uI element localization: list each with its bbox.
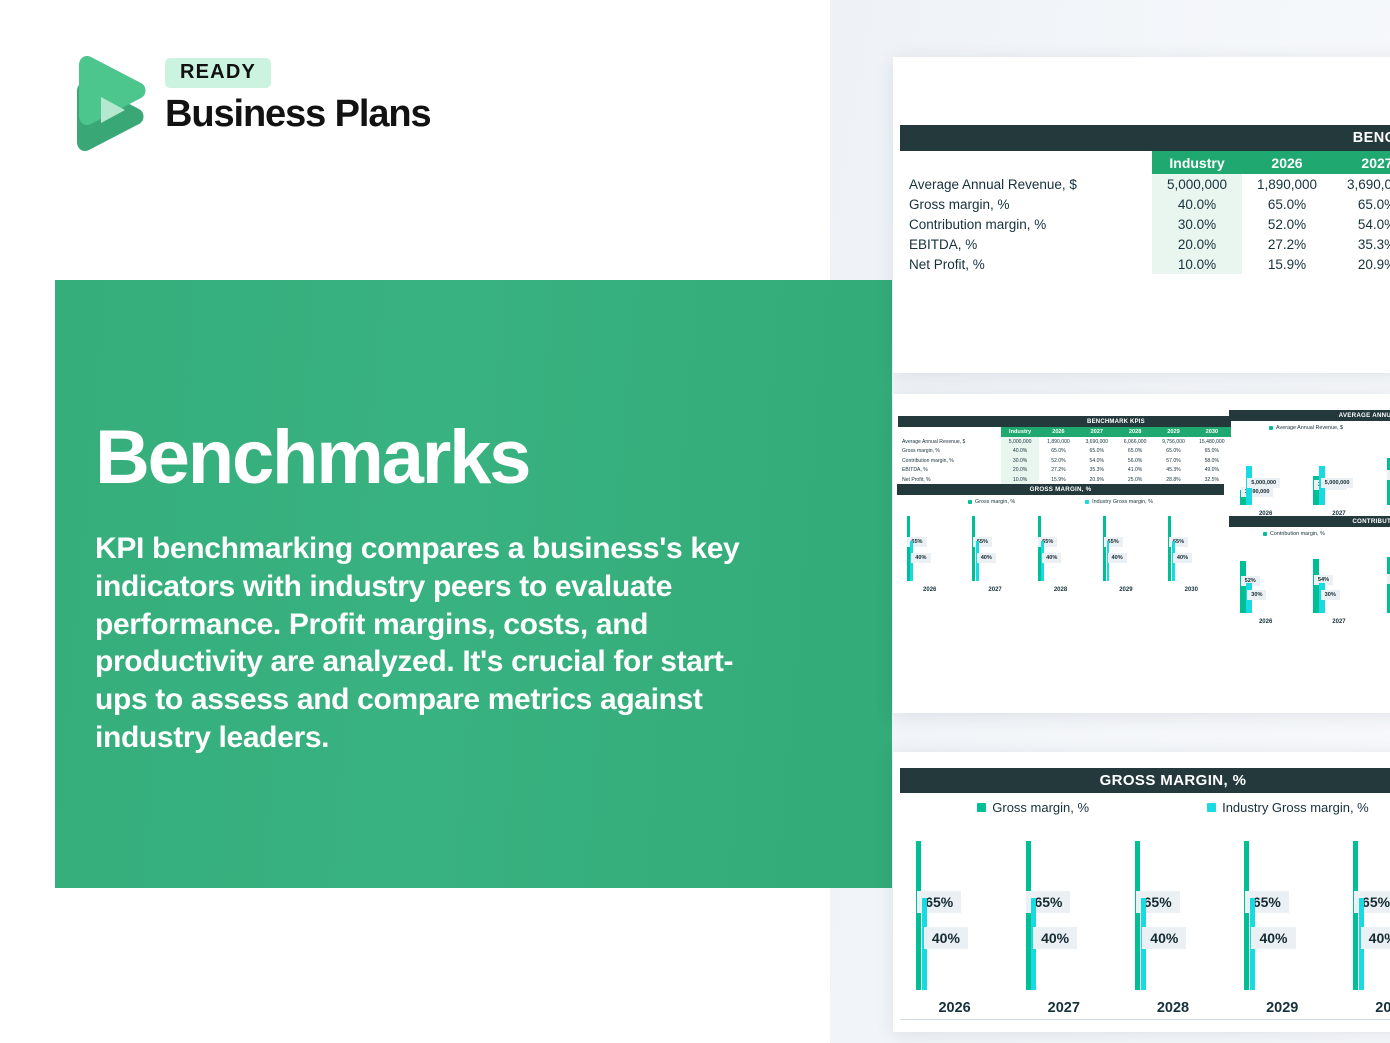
- header-spacer: [900, 151, 1152, 174]
- panel-benchmark-table: BENCHMARK KPISIndustry202620272028202920…: [893, 57, 1390, 373]
- x-axis-label: 2027: [1311, 619, 1367, 625]
- legend-label: Contribution margin, %: [1270, 531, 1325, 537]
- chart-plot-area: 1,890,0005,000,00020263,690,0005,000,000…: [1229, 435, 1390, 505]
- table-cell: 65.0%: [1116, 447, 1154, 457]
- row-label: Gross margin, %: [900, 194, 1152, 214]
- table-cell: 56.0%: [1116, 456, 1154, 466]
- x-axis-label: 2026: [1238, 619, 1294, 625]
- table-cell: 52.0%: [1039, 456, 1077, 466]
- benchmark-kpis-table: BENCHMARK KPISIndustry202620272028202920…: [900, 125, 1390, 274]
- bar-value-label: 30%: [1321, 590, 1340, 600]
- table-cell: 20.0%: [1001, 466, 1039, 476]
- bar-group: 3,690,0005,000,0002027: [1311, 435, 1367, 505]
- table-cell: 3,690,000: [1332, 174, 1390, 194]
- table-cell: 35.3%: [1332, 234, 1390, 254]
- table-cell: 65.0%: [1039, 447, 1077, 457]
- bar: [1353, 841, 1358, 990]
- x-axis-label: 2029: [1241, 1000, 1324, 1016]
- page-title: Benchmarks: [95, 420, 529, 496]
- table-cell: 58.0%: [1193, 456, 1231, 466]
- bar: [1240, 561, 1246, 613]
- chart-gross-margin-small: GROSS MARGIN, % Gross margin, % Industry…: [897, 484, 1224, 589]
- bar-group: 65%40%2029: [1241, 825, 1324, 990]
- legend-label: Gross margin, %: [992, 800, 1089, 815]
- bar-value-label: 30%: [1247, 590, 1266, 600]
- row-label: Average Annual Revenue, $: [898, 437, 1001, 447]
- chart-legend: Contribution margin, %: [1229, 527, 1390, 540]
- table-body-small: BENCHMARK KPISIndustry202620272028202920…: [898, 416, 1231, 485]
- table-cell: 20.0%: [1152, 234, 1242, 254]
- legend-swatch-icon: [1085, 500, 1089, 504]
- column-header: 2027: [1078, 427, 1116, 437]
- table-cell: 41.0%: [1116, 466, 1154, 476]
- table-title: BENCHMARK KPIS: [1001, 416, 1231, 427]
- bar-group: 54%30%2027: [1311, 541, 1367, 613]
- chart-title: CONTRIBUTION MARGIN, %: [1229, 516, 1390, 527]
- table-title-row: BENCHMARK KPIS: [900, 125, 1390, 151]
- x-axis-label: 2029: [1101, 587, 1151, 593]
- x-axis-label: 2027: [1022, 1000, 1105, 1016]
- header-spacer: [898, 427, 1001, 437]
- legend-label: Average Annual Revenue, $: [1276, 425, 1343, 431]
- table-cell: 52.0%: [1242, 214, 1332, 234]
- bar-group: 65%40%2026: [913, 825, 996, 990]
- table-cell: 3,690,000: [1078, 437, 1116, 447]
- legend-label: Gross margin, %: [975, 499, 1015, 505]
- chart-title: GROSS MARGIN, %: [897, 484, 1224, 495]
- column-header: 2026: [1242, 151, 1332, 174]
- x-axis-label: 2027: [970, 587, 1020, 593]
- play-triangles-logo-icon: [55, 55, 155, 155]
- table-cell: 65.0%: [1154, 447, 1192, 457]
- table-cell: 9,756,000: [1154, 437, 1192, 447]
- table-header-row: Industry20262027202820292030: [898, 427, 1231, 437]
- legend-item: Industry Gross margin, %: [1207, 800, 1369, 815]
- bar-value-label: 40%: [1108, 553, 1127, 563]
- table-title-row: BENCHMARK KPIS: [898, 416, 1231, 427]
- row-label: Gross margin, %: [898, 447, 1001, 457]
- legend-swatch-icon: [968, 500, 972, 504]
- bar: [916, 841, 921, 990]
- table-cell: 30.0%: [1152, 214, 1242, 234]
- table-cell: 6,066,000: [1116, 437, 1154, 447]
- x-axis-label: 2026: [905, 587, 955, 593]
- chart-legend: Gross margin, % Industry Gross margin, %: [897, 495, 1224, 508]
- table-cell: 54.0%: [1332, 214, 1390, 234]
- table-row: Net Profit, %10.0%15.9%20.9%25.0%28.8%32…: [900, 254, 1390, 274]
- table-row: Average Annual Revenue, $5,000,0001,890,…: [900, 174, 1390, 194]
- table-row: Gross margin, %40.0%65.0%65.0%65.0%65.0%…: [898, 447, 1231, 457]
- bar-group: 65%40%2030: [1166, 509, 1216, 581]
- table-cell: 1,890,000: [1242, 174, 1332, 194]
- table-cell: 57.0%: [1154, 456, 1192, 466]
- legend-label: Industry Gross margin, %: [1222, 800, 1369, 815]
- chart-title: AVERAGE ANNUAL REVENUE, $: [1229, 410, 1390, 421]
- chart-legend: Average Annual Revenue, $: [1229, 421, 1390, 434]
- table-cell: 35.3%: [1078, 466, 1116, 476]
- column-header: Industry: [1152, 151, 1242, 174]
- bar-value-label: 40%: [1042, 553, 1061, 563]
- column-header: 2030: [1193, 427, 1231, 437]
- row-label: EBITDA, %: [900, 234, 1152, 254]
- x-axis-label: 2028: [1132, 1000, 1215, 1016]
- table-cell: 65.0%: [1332, 194, 1390, 214]
- chart-title: GROSS MARGIN, %: [900, 768, 1390, 793]
- x-axis-label: 2030: [1350, 1000, 1390, 1016]
- table-cell: 5,000,000: [1001, 437, 1039, 447]
- x-axis-label: 2028: [1384, 619, 1390, 625]
- column-header: 2028: [1116, 427, 1154, 437]
- table-row: EBITDA, %20.0%27.2%35.3%41.0%45.3%49.0%: [898, 466, 1231, 476]
- table-body-big: BENCHMARK KPISIndustry202620272028202920…: [900, 125, 1390, 274]
- table-title: BENCHMARK KPIS: [1152, 125, 1390, 151]
- benchmark-kpis-table-small: BENCHMARK KPISIndustry202620272028202920…: [898, 416, 1231, 485]
- x-axis-label: 2028: [1036, 587, 1086, 593]
- table-cell: 15,480,000: [1193, 437, 1231, 447]
- bar-value-label: 40%: [911, 553, 930, 563]
- bar-value-label: 40%: [1033, 927, 1077, 949]
- table-cell: 20.9%: [1332, 254, 1390, 274]
- bar-group: 65%40%2027: [1022, 825, 1105, 990]
- brand-wordmark: READY Business Plans: [165, 58, 431, 135]
- bar-group: 65%40%2026: [905, 509, 955, 581]
- legend-swatch-icon: [1207, 803, 1216, 812]
- column-header: 2027: [1332, 151, 1390, 174]
- legend-item: Gross margin, %: [977, 800, 1089, 815]
- bar-value-label: 40%: [924, 927, 968, 949]
- brand-logo[interactable]: READY Business Plans: [55, 52, 435, 157]
- row-label: Net Profit, %: [900, 254, 1152, 274]
- legend-item: Gross margin, %: [968, 499, 1015, 505]
- bar: [1135, 841, 1140, 990]
- chart-average-annual-revenue: AVERAGE ANNUAL REVENUE, $ Average Annual…: [1229, 410, 1390, 510]
- table-cell: 5,000,000: [1152, 174, 1242, 194]
- table-cell: 45.3%: [1154, 466, 1192, 476]
- bar-value-label: 40%: [1142, 927, 1186, 949]
- hero-panel: Benchmarks KPI benchmarking compares a b…: [55, 280, 892, 888]
- table-row: Contribution margin, %30.0%52.0%54.0%56.…: [898, 456, 1231, 466]
- table-cell: 27.2%: [1039, 466, 1077, 476]
- table-cell: 27.2%: [1242, 234, 1332, 254]
- table-title-spacer: [900, 125, 1152, 151]
- bar-group: 65%40%2028: [1132, 825, 1215, 990]
- bar-group: 6,066,0005,000,0002028: [1384, 435, 1390, 505]
- bar-group: 52%30%2026: [1238, 541, 1294, 613]
- x-axis-label: 2030: [1166, 587, 1216, 593]
- chart-gross-margin-large: GROSS MARGIN, % Gross margin, % Industry…: [900, 768, 1390, 1020]
- bar-value-label: 5,000,000: [1247, 478, 1280, 488]
- legend-item: Contribution margin, %: [1263, 531, 1325, 537]
- bar-value-label: 40%: [977, 553, 996, 563]
- table-header-row: Industry20262027202820292030: [900, 151, 1390, 174]
- legend-swatch-icon: [1269, 426, 1273, 430]
- table-cell: 10.0%: [1152, 254, 1242, 274]
- brand-name: Business Plans: [165, 95, 431, 135]
- legend-item: Industry Gross margin, %: [1085, 499, 1153, 505]
- bar: [1313, 559, 1319, 613]
- chart-plot-area: 65%40%202665%40%202765%40%202865%40%2029…: [897, 509, 1224, 581]
- table-cell: 15.9%: [1242, 254, 1332, 274]
- bar-group: 65%40%2029: [1101, 509, 1151, 581]
- panel-dashboard-overview: BENCHMARK KPISIndustry202620272028202920…: [893, 394, 1390, 713]
- bar-group: 1,890,0005,000,0002026: [1238, 435, 1294, 505]
- panel-gross-margin-chart: GROSS MARGIN, % Gross margin, % Industry…: [893, 752, 1390, 1032]
- column-header: 2029: [1154, 427, 1192, 437]
- hero-description: KPI benchmarking compares a business's k…: [95, 530, 765, 757]
- legend-item: Average Annual Revenue, $: [1269, 425, 1343, 431]
- bar-group: 56%30%2028: [1384, 541, 1390, 613]
- table-cell: 30.0%: [1001, 456, 1039, 466]
- table-cell: 54.0%: [1078, 456, 1116, 466]
- legend-swatch-icon: [977, 803, 986, 812]
- bar: [1244, 841, 1249, 990]
- row-label: EBITDA, %: [898, 466, 1001, 476]
- bar-group: 65%40%2030: [1350, 825, 1390, 990]
- row-label: Contribution margin, %: [900, 214, 1152, 234]
- bar-group: 65%40%2028: [1036, 509, 1086, 581]
- table-cell: 65.0%: [1193, 447, 1231, 457]
- legend-swatch-icon: [1263, 532, 1267, 536]
- bar-value-label: 5,000,000: [1321, 478, 1354, 488]
- chart-legend: Gross margin, % Industry Gross margin, %: [900, 793, 1390, 821]
- row-label: Contribution margin, %: [898, 456, 1001, 466]
- slide-root: READY Business Plans Benchmarks KPI benc…: [0, 0, 1390, 1043]
- table-row: EBITDA, %20.0%27.2%35.3%41.0%45.3%49.0%: [900, 234, 1390, 254]
- table-row: Contribution margin, %30.0%52.0%54.0%56.…: [900, 214, 1390, 234]
- table-cell: 65.0%: [1078, 447, 1116, 457]
- bar-group: 65%40%2027: [970, 509, 1020, 581]
- column-header: Industry: [1001, 427, 1039, 437]
- table-cell: 65.0%: [1242, 194, 1332, 214]
- bar-value-label: 40%: [1173, 553, 1192, 563]
- bar-value-label: 40%: [1361, 927, 1390, 949]
- table-title-spacer: [898, 416, 1001, 427]
- row-label: Average Annual Revenue, $: [900, 174, 1152, 194]
- column-header: 2026: [1039, 427, 1077, 437]
- chart-plot-area: 52%30%202654%30%202756%30%2028: [1229, 541, 1390, 613]
- bar-value-label: 40%: [1251, 927, 1295, 949]
- ready-badge: READY: [165, 58, 271, 88]
- bar: [1026, 841, 1031, 990]
- table-cell: 49.0%: [1193, 466, 1231, 476]
- table-row: Average Annual Revenue, $5,000,0001,890,…: [898, 437, 1231, 447]
- table-cell: 40.0%: [1001, 447, 1039, 457]
- table-row: Gross margin, %40.0%65.0%65.0%65.0%65.0%…: [900, 194, 1390, 214]
- table-cell: 1,890,000: [1039, 437, 1077, 447]
- legend-label: Industry Gross margin, %: [1092, 499, 1153, 505]
- chart-contribution-margin: CONTRIBUTION MARGIN, % Contribution marg…: [1229, 516, 1390, 621]
- chart-plot-area: 65%40%202665%40%202765%40%202865%40%2029…: [900, 825, 1390, 990]
- table-cell: 40.0%: [1152, 194, 1242, 214]
- x-axis-label: 2026: [913, 1000, 996, 1016]
